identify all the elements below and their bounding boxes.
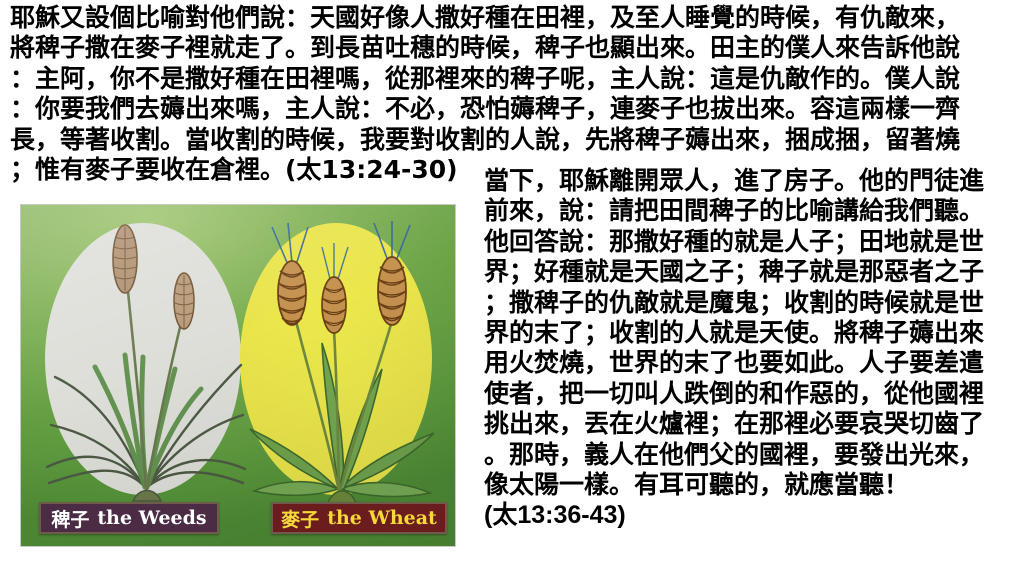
passage-one-line-3: ：主阿，你不是撒好種在田裡嗎，從那裡來的稗子呢，主人說：這是仇敵作的。僕人說 [10,64,1024,94]
passage-two-line-2: 前來，說：請把田間稗子的比喻講給我們聽。 [484,196,1024,226]
passage-one-line-1: 耶穌又設個比喻對他們說：天國好像人撒好種在田裡，及至人睡覺的時候，有仇敵來， [10,3,1024,33]
slide-canvas: 耶穌又設個比喻對他們說：天國好像人撒好種在田裡，及至人睡覺的時候，有仇敵來， 將… [0,0,1024,576]
passage-two-line-3: 他回答說：那撒好種的就是人子；田地就是世 [484,227,1024,257]
weed-seedhead-left [113,225,137,293]
caption-wheat-chinese: 麥子 [281,505,319,532]
caption-weeds-chinese: 稗子 [51,505,89,532]
wheat-ear-left [272,223,308,325]
caption-plaque-weeds: 稗子 the Weeds [39,502,219,534]
weed-seedhead-right [174,273,194,329]
wheat-plant-illustration [226,217,455,517]
passage-two-line-11: 像太陽一樣。有耳可聽的，就應當聽！ [484,470,1024,500]
caption-wheat-english: the Wheat [319,507,437,529]
passage-one-line-4: ：你要我們去薅出來嗎，主人說：不必，恐怕薅稗子，連麥子也拔出來。容這兩樣一齊 [10,94,1024,124]
passage-two-text: 當下，耶穌離開眾人，進了房子。他的門徒進 前來，說：請把田間稗子的比喻講給我們聽… [484,166,1024,531]
passage-two-reference: (太13:36-43) [484,500,1024,530]
passage-two-line-9: 挑出來，丟在火爐裡；在那裡必要哀哭切齒了 [484,409,1024,439]
passage-two-line-7: 用火焚燒，世界的末了也要如此。人子要差遣 [484,348,1024,378]
passage-two-line-10: 。那時，義人在他們父的國裡，要發出光來， [484,440,1024,470]
wheat-ear-right [374,221,410,325]
caption-weeds-english: the Weeds [89,507,206,529]
passage-two-line-6: 界的末了；收割的人就是天使。將稗子薅出來 [484,318,1024,348]
passage-one-line-5: 長，等著收割。當收割的時候，我要對收割的人說，先將稗子薅出來，捆成捆，留著燒 [10,125,1024,155]
passage-two-line-5: ；撒稗子的仇敵就是魔鬼；收割的時候就是世 [484,288,1024,318]
passage-one-text: 耶穌又設個比喻對他們說：天國好像人撒好種在田裡，及至人睡覺的時候，有仇敵來， 將… [10,3,1024,185]
wheat-ear-middle [322,243,348,333]
passage-two-line-4: 界；好種就是天國之子；稗子就是那惡者之子 [484,257,1024,287]
passage-two-line-8: 使者，把一切叫人跌倒的和作惡的，從他國裡 [484,379,1024,409]
illustration-panel: 稗子 the Weeds 麥子 the Wheat [21,205,455,546]
passage-one-line-2: 將稗子撒在麥子裡就走了。到長苗吐穗的時候，稗子也顯出來。田主的僕人來告訴他說 [10,33,1024,63]
passage-two-line-1: 當下，耶穌離開眾人，進了房子。他的門徒進 [484,166,1024,196]
caption-plaque-wheat: 麥子 the Wheat [271,502,447,534]
